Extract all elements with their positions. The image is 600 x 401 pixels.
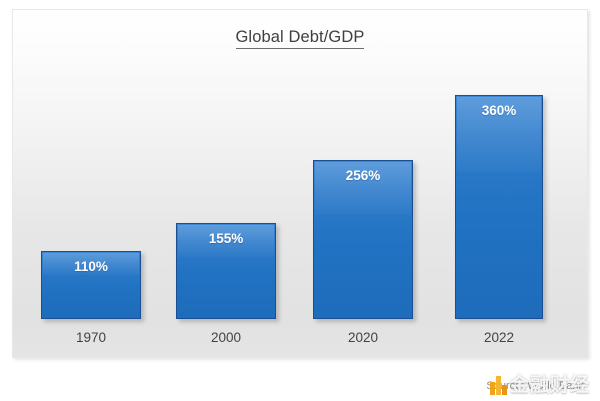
bar-value-label-0: 110% bbox=[42, 259, 140, 274]
source-note: Source: World Bank bbox=[486, 380, 584, 392]
plot-area: 110% 1970 155% 2000 256% 2020 bbox=[13, 10, 589, 359]
category-label-2020: 2020 bbox=[313, 330, 413, 345]
bar-value-label-3: 360% bbox=[456, 103, 542, 118]
bar-group-0: 110% 1970 bbox=[41, 251, 141, 319]
category-label-1970: 1970 bbox=[41, 330, 141, 345]
bar-value-label-1: 155% bbox=[177, 231, 275, 246]
bar-2020[interactable]: 256% bbox=[313, 160, 413, 319]
category-label-2022: 2022 bbox=[455, 330, 543, 345]
bar-group-3: 360% 2022 bbox=[455, 95, 543, 319]
bar-value-label-2: 256% bbox=[314, 168, 412, 183]
category-label-2000: 2000 bbox=[176, 330, 276, 345]
chart-canvas: Global Debt/GDP 110% 1970 155% 2000 bbox=[0, 0, 600, 401]
bar-2022[interactable]: 360% bbox=[455, 95, 543, 319]
bar-1970[interactable]: 110% bbox=[41, 251, 141, 319]
bar-group-1: 155% 2000 bbox=[176, 223, 276, 319]
chart-plot-frame: Global Debt/GDP 110% 1970 155% 2000 bbox=[12, 9, 588, 358]
bar-group-2: 256% 2020 bbox=[313, 160, 413, 319]
bar-2000[interactable]: 155% bbox=[176, 223, 276, 319]
